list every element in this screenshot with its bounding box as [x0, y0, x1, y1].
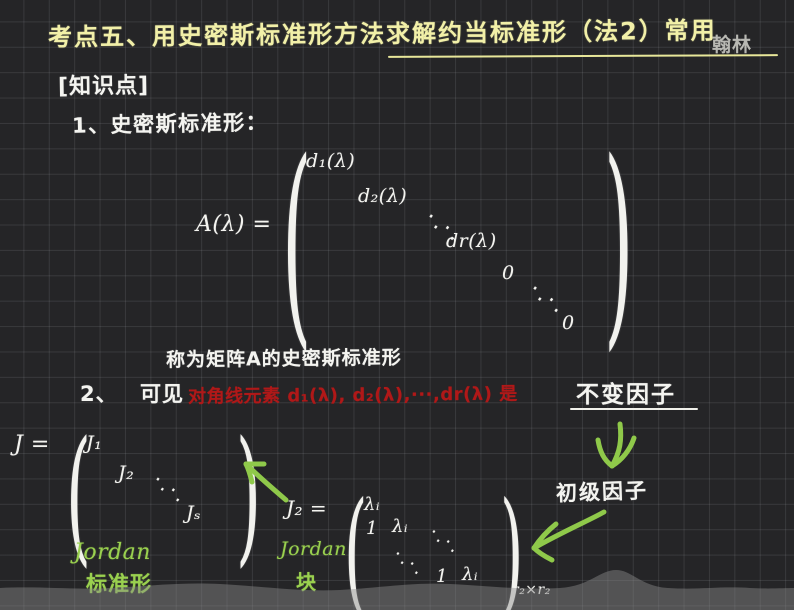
elementary-divisor-label: 初级因子 — [556, 474, 649, 507]
matrix-a-cell-zero-2: 0 — [562, 312, 575, 334]
jordan-block-lambda-1: λᵢ — [364, 494, 380, 515]
item-2-red-note: 对角线元素 d₁(λ), d₂(λ),···,dr(λ) 是 — [188, 380, 518, 409]
matrix-j-cell-j2: J₂ — [118, 462, 134, 484]
jordan-block-lambda-3: λᵢ — [462, 564, 478, 585]
jordan-block-label-cn: 块 — [296, 566, 317, 595]
matrix-a-cell-d2: d₂(λ) — [358, 185, 407, 207]
jordan-block-dots-lower: ·.·. — [389, 544, 430, 581]
jordan-block-label-en: Jordan — [280, 538, 347, 560]
smith-form-caption: 称为矩阵A的史密斯标准形 — [166, 343, 402, 372]
matrix-a-cell-d1: d₁(λ) — [306, 150, 355, 172]
jordan-block-lambda-2: λᵢ — [392, 516, 408, 537]
item-2-index: 2、 — [80, 378, 118, 408]
jordan-block-size-subscript: r₂×r₂ — [512, 582, 551, 598]
watermark-label: 翰林 — [712, 30, 752, 57]
green-arrow-down-left — [534, 512, 604, 560]
invariant-factor-underline — [570, 408, 698, 410]
jordan-block-one-2: 1 — [436, 566, 448, 587]
matrix-j-cell-js: Jₛ — [186, 502, 201, 524]
jordan-block-lhs: J₂ = — [286, 496, 327, 520]
item-1-heading: 1、史密斯标准形： — [72, 106, 269, 139]
matrix-a-lhs: A(λ) = — [196, 212, 271, 237]
knowledge-point-label: [知识点] — [58, 67, 150, 100]
matrix-a-cell-zero-1: 0 — [502, 262, 515, 284]
matrix-j-cell-j1: J₁ — [86, 432, 102, 454]
jordan-form-label-en: Jordan — [74, 540, 151, 565]
matrix-j-lhs: J = — [14, 432, 50, 457]
jordan-form-label-cn: 标准形 — [86, 568, 152, 598]
note-canvas: 考点五、用史密斯标准形方法求解约当标准形（法2）常用 翰林 [知识点] 1、史密… — [0, 0, 794, 610]
green-arrow-down — [598, 424, 634, 466]
matrix-a-right-paren: ) — [604, 132, 633, 352]
jordan-block-dots-upper: ·.·. — [425, 522, 466, 559]
jordan-block-one-1: 1 — [366, 518, 378, 539]
matrix-a-cell-dr: dr(λ) — [446, 230, 497, 252]
invariant-factor-highlight: 不变因子 — [576, 375, 676, 409]
matrix-j-right-paren: ) — [236, 424, 261, 571]
page-title: 考点五、用史密斯标准形方法求解约当标准形（法2）常用 — [48, 10, 717, 52]
item-2-lead-in: 可见 — [140, 378, 184, 408]
